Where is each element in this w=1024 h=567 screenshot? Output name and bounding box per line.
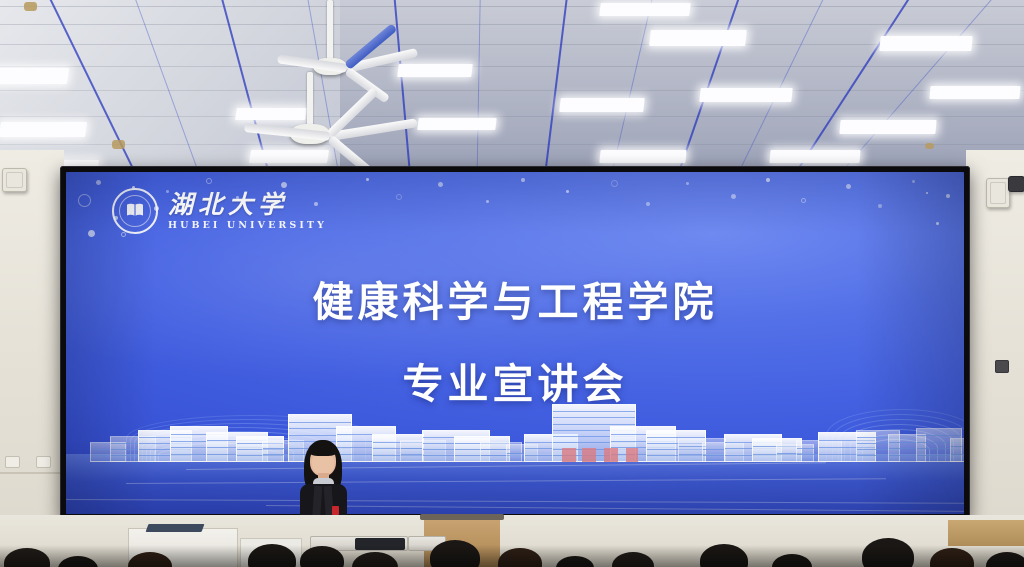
building-window-row [289, 422, 351, 423]
university-logo: 湖北大学 HUBEI UNIVERSITY [112, 188, 327, 234]
foreground-shadow [0, 545, 1024, 567]
logo-chinese-name: 湖北大学 [168, 192, 327, 217]
building-entrance-bay [562, 448, 576, 462]
bubble-particle [686, 182, 689, 185]
bubble-particle [96, 180, 101, 185]
ceiling-plank [0, 44, 1024, 45]
bubble-particle [646, 202, 650, 206]
bubble-particle [486, 200, 489, 203]
ceiling-light-panel [649, 30, 747, 46]
ceiling-light-panel [769, 150, 860, 163]
bubble-particle [396, 194, 402, 200]
lecture-hall-screenshot: 湖北大学 HUBEI UNIVERSITY 健康科学与工程学院 专业宣讲会 [0, 0, 1024, 567]
skyline-building [950, 438, 964, 462]
hubei-university-seal-icon [112, 188, 158, 234]
bubble-particle [611, 180, 618, 187]
ceiling-light-panel [559, 98, 644, 112]
ceiling-plank [0, 144, 1024, 145]
bubble-particle [936, 222, 939, 225]
ceiling-plank [0, 24, 1024, 25]
ceiling-light-panel [0, 68, 69, 84]
presenter-badge [332, 506, 339, 515]
building-window-row [917, 435, 961, 436]
screen-surface: 湖北大学 HUBEI UNIVERSITY 健康科学与工程学院 专业宣讲会 [66, 172, 964, 514]
bubble-particle [912, 180, 915, 183]
ceiling-light-panel [879, 36, 972, 51]
ceiling-light-panel [0, 122, 87, 137]
bubble-particle [78, 194, 91, 207]
ceiling-plank [0, 116, 1024, 117]
laptop[interactable] [146, 524, 205, 532]
bubble-particle [206, 178, 212, 184]
ceiling-plank [0, 90, 1024, 91]
wall-left [0, 150, 64, 567]
bubble-particle [438, 182, 443, 187]
bubble-particle [766, 178, 770, 182]
bubble-particle [366, 178, 369, 181]
wall-outlet-left-a[interactable] [5, 456, 20, 468]
side-counter [948, 520, 1024, 546]
building-window-row [553, 424, 635, 425]
ceiling-light-panel [839, 120, 936, 134]
smoke-detector-right [925, 143, 934, 149]
logo-english-name: HUBEI UNIVERSITY [168, 221, 327, 231]
ceiling-light-panel [699, 88, 792, 102]
open-book-icon [125, 202, 145, 220]
wall-speaker-left [2, 168, 27, 192]
presenter-fringe [309, 442, 337, 456]
building-entrance-bay [604, 448, 618, 462]
bubble-particle [88, 230, 95, 237]
bubble-particle [731, 194, 736, 199]
building-entrance-bay [626, 448, 638, 462]
bubble-particle [878, 204, 882, 208]
ceiling-light-panel [929, 86, 1020, 99]
wall-trim-left [0, 472, 62, 474]
bubble-particle [946, 194, 950, 198]
smoke-detector-center [112, 140, 125, 149]
building-entrance-bay [582, 448, 596, 462]
bubble-particle [846, 184, 851, 189]
bubble-particle [926, 192, 928, 194]
ceiling-light-panel [235, 108, 307, 120]
building-window-row [553, 411, 635, 412]
wall-outlet-right[interactable] [995, 360, 1009, 373]
bubble-particle [801, 198, 806, 203]
bubble-particle [521, 178, 525, 182]
ceiling-light-panel [249, 150, 329, 163]
led-presentation-screen[interactable]: 湖北大学 HUBEI UNIVERSITY 健康科学与工程学院 专业宣讲会 [60, 166, 970, 520]
ceiling-light-panel [397, 64, 473, 77]
ceiling-light-panel [599, 3, 691, 16]
building-window-row [951, 446, 964, 447]
ceiling [0, 0, 1024, 180]
building-window-row [553, 417, 635, 418]
slide-title-line-1: 健康科学与工程学院 [66, 268, 964, 328]
ceiling-plank [0, 6, 1024, 7]
building-window-row [951, 454, 964, 455]
ceiling-light-panel [599, 150, 686, 163]
wall-outlet-left-b[interactable] [36, 456, 51, 468]
wall-right [966, 150, 1024, 567]
ceiling-plank [0, 66, 1024, 67]
campus-skyline-illustration [66, 384, 964, 514]
wall-speaker-right [986, 178, 1010, 208]
smoke-detector-left [24, 2, 37, 11]
wall-mount-bracket-right [1008, 176, 1024, 192]
bubble-particle [566, 190, 569, 193]
skyline-ground [66, 454, 964, 514]
ceiling-light-panel [417, 118, 496, 130]
